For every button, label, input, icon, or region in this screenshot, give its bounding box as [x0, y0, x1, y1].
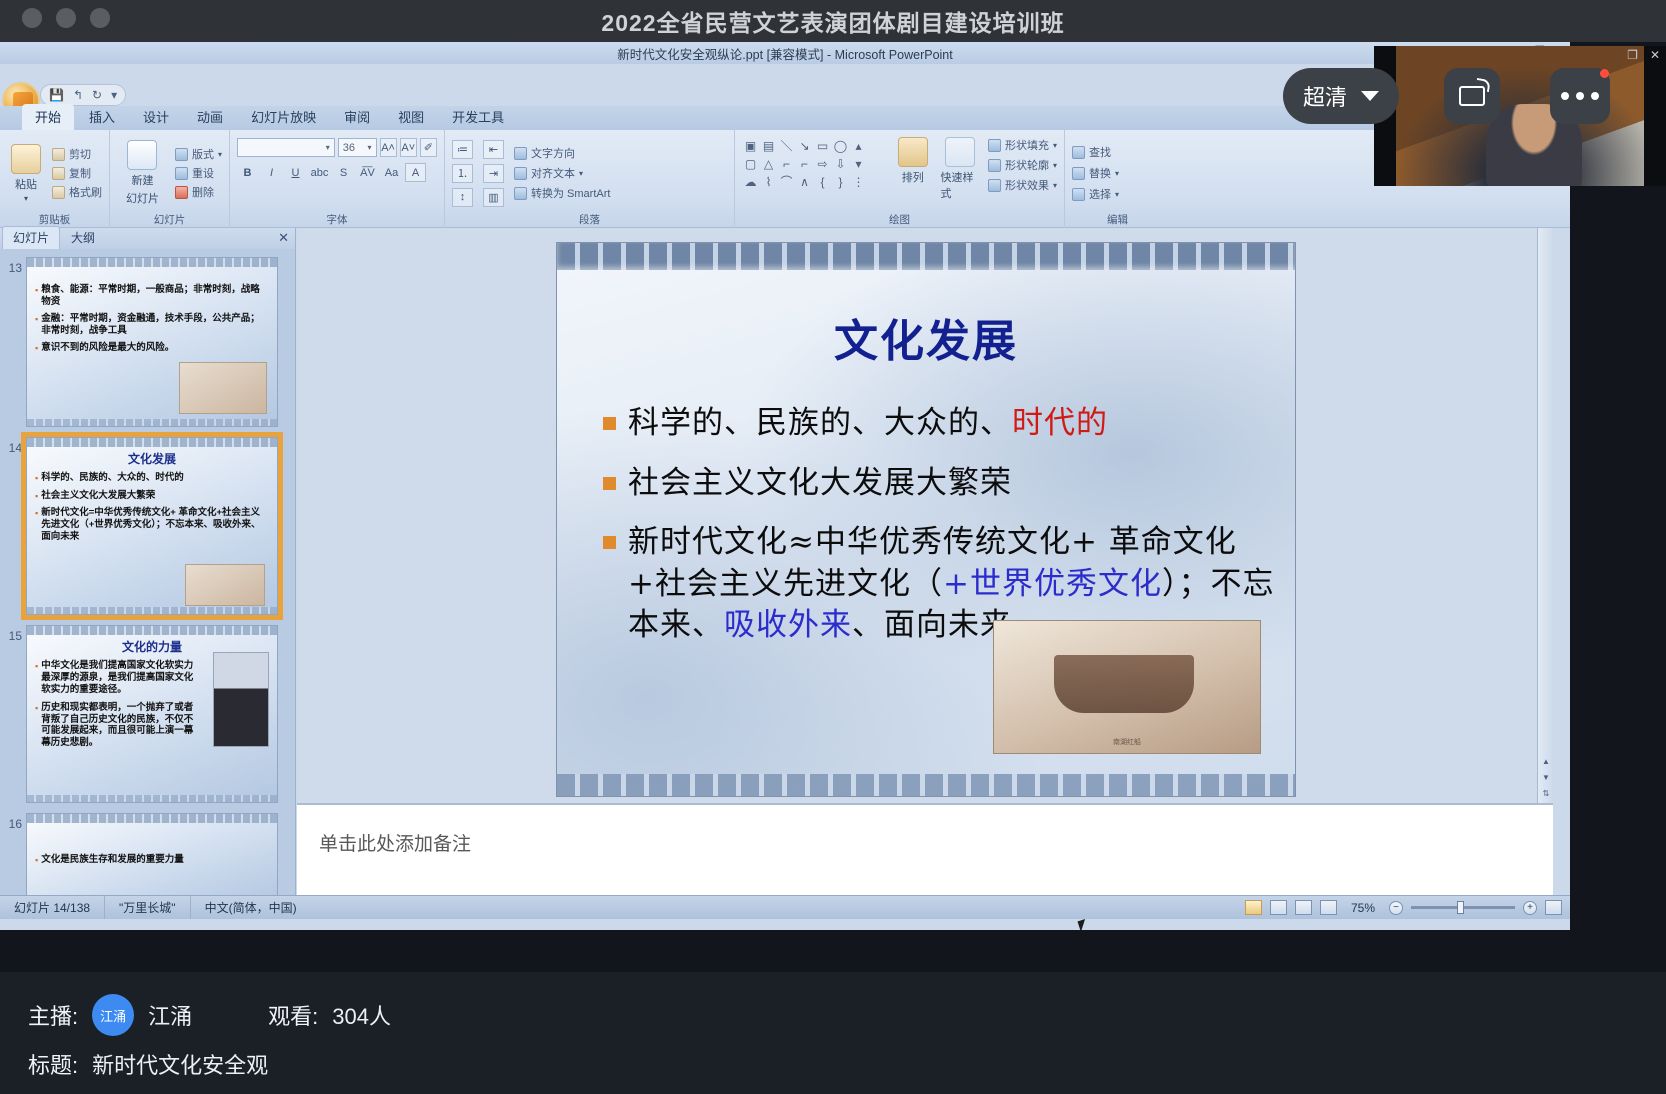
arrow-shape-icon[interactable]: ↘ — [796, 137, 813, 154]
thumb-line: 意识不到的风险是最大的风险。 — [41, 342, 174, 355]
quick-styles-button[interactable]: 快速样式 — [940, 137, 979, 201]
fit-to-window-icon[interactable] — [1545, 900, 1562, 915]
ribbon: 粘贴 ▾ 剪切 复制 — [0, 130, 1570, 228]
font-name-dropdown-icon[interactable]: ▾ — [326, 143, 330, 152]
thumb-line: 中华文化是我们提高国家文化软实力最深厚的源泉，是我们提高国家文化软实力的重要途径… — [41, 660, 200, 696]
align-text-label: 对齐文本 — [531, 165, 575, 181]
shared-screen: 新时代文化安全观纵论.ppt [兼容模式] - Microsoft PowerP… — [0, 42, 1570, 930]
decrease-font-size-button[interactable]: A˅ — [400, 138, 417, 157]
ribbon-group-font: ▾ 36 ▾ A˄ A˅ ✐ B I — [230, 130, 445, 228]
close-dot[interactable] — [22, 8, 42, 28]
powerpoint-document-title: 新时代文化安全观纵论.ppt [兼容模式] - Microsoft PowerP… — [617, 44, 952, 63]
format-painter-button[interactable]: 格式刷 — [52, 184, 102, 200]
slide-bullet-2: 社会主义文化大发展大繁荣 — [603, 463, 1283, 505]
underline-button[interactable]: U — [285, 163, 306, 182]
scroll-down-icon[interactable]: ▼ — [1538, 769, 1554, 785]
arrange-label: 排列 — [902, 169, 924, 185]
elbow-connector-shape-icon[interactable]: ⌐ — [778, 155, 795, 172]
avatar[interactable]: 江涌 — [92, 994, 134, 1036]
arrange-button[interactable]: 排列 — [893, 137, 932, 185]
smartart-icon — [514, 187, 527, 200]
ribbon-group-slides: 新建 幻灯片 版式 ▾ 重设 — [110, 130, 230, 228]
bullet-3-part-5: 、面向未来 — [852, 607, 1012, 643]
arrange-icon — [898, 137, 928, 167]
paste-button[interactable]: 粘贴 ▾ — [7, 134, 45, 212]
copy-label: 复制 — [69, 165, 91, 181]
editing-group-label: 编辑 — [1065, 212, 1170, 227]
speaker-portrait-image — [213, 652, 269, 747]
thumbnail-pane-tabs: 幻灯片 大纲 ✕ — [0, 228, 295, 249]
stream-title-label: 标题: — [28, 1048, 78, 1080]
paste-dropdown-icon[interactable]: ▾ — [24, 194, 28, 203]
video-close-icon[interactable]: ✕ — [1650, 48, 1660, 62]
video-restore-icon[interactable]: ❐ — [1627, 48, 1638, 62]
notes-placeholder[interactable]: 单击此处添加备注 — [319, 829, 1553, 856]
bullet-icon: ▪ — [35, 472, 38, 485]
list-item[interactable]: 14 文化发展 ▪科学的、民族的、大众的、时代的 ▪社会主义文化大发展大繁荣 ▪… — [4, 437, 296, 615]
stream-title-bar: 2022全省民营文艺表演团体剧目建设培训班 — [0, 0, 1666, 42]
close-pane-icon[interactable]: ✕ — [278, 230, 289, 246]
live-info-panel: 主播: 江涌 江涌 观看: 304人 标题: 新时代文化安全观 — [0, 972, 1666, 1094]
paste-icon — [11, 144, 41, 174]
bullet-icon: ▪ — [35, 284, 38, 308]
slide-top-band — [27, 258, 277, 267]
select-label: 选择 — [1089, 186, 1111, 202]
font-group-label: 字体 — [230, 212, 444, 227]
shapes-spacer-2 — [868, 155, 885, 172]
replace-icon — [1072, 167, 1085, 180]
bullet-1-part-1: 科学的、民族的、大众的、 — [628, 405, 1012, 441]
viewers-label: 观看: — [268, 999, 318, 1031]
more-options-icon-dot3 — [1591, 92, 1599, 100]
more-options-icon — [1561, 92, 1569, 100]
bullet-3-part-4: 吸收外来 — [724, 607, 852, 643]
powerpoint-status-bar: 幻灯片 14/138 "万里长城" 中文(简体，中国) 75% − + — [0, 895, 1570, 919]
save-icon[interactable]: 💾 — [49, 88, 64, 102]
slides-group-label: 幻灯片 — [110, 212, 229, 227]
red-boat-image — [185, 564, 265, 606]
thumb-title: 文化发展 — [35, 450, 269, 467]
bullet-icon: ▪ — [35, 342, 38, 355]
host-row: 主播: 江涌 江涌 观看: 304人 — [28, 994, 1666, 1036]
thumbnail-card-15[interactable]: 文化的力量 ▪中华文化是我们提高国家文化软实力最深厚的源泉，是我们提高国家文化软… — [26, 625, 278, 803]
oval-shape-icon[interactable]: ◯ — [832, 137, 849, 154]
list-item[interactable]: 16 ▪文化是民族生存和发展的重要力量 — [4, 813, 296, 895]
tab-review[interactable]: 审阅 — [331, 104, 383, 130]
right-brace-shape-icon[interactable]: } — [832, 173, 849, 190]
delete-icon — [175, 186, 188, 199]
layout-button[interactable]: 版式 ▾ — [175, 146, 222, 162]
theme-name: "万里长城" — [105, 896, 191, 919]
new-slide-label-1: 新建 — [131, 172, 153, 188]
slide-bullet-1: 科学的、民族的、大众的、时代的 — [603, 403, 1283, 445]
ribbon-group-paragraph: ≔ ⒈ ↕ ⇤ ⇥ ▥ 文字方向 — [445, 130, 735, 228]
quality-selector-button[interactable]: 超清 — [1283, 68, 1399, 124]
bullet-3-part-2: +世界优秀文化 — [943, 566, 1162, 602]
quick-styles-label: 快速样式 — [940, 169, 979, 201]
shape-effects-icon — [988, 179, 1001, 192]
language-indicator[interactable]: 中文(简体，中国) — [191, 896, 311, 919]
undo-icon[interactable]: ↰ — [73, 88, 83, 102]
shapes-spacer — [868, 137, 885, 154]
find-label: 查找 — [1089, 144, 1111, 160]
shape-outline-label: 形状轮廓 — [1005, 157, 1049, 173]
list-item[interactable]: 13 ▪粮食、能源：平常时期，一般商品；非常时刻，战略物资 ▪金融：平常时期，资… — [4, 257, 296, 427]
tab-insert[interactable]: 插入 — [76, 104, 128, 130]
slide-editing-area[interactable]: 文化发展 科学的、民族的、大众的、时代的 社会主义文化大发展大繁荣 — [297, 228, 1553, 803]
delete-slide-button[interactable]: 删除 — [175, 184, 222, 200]
new-slide-button[interactable]: 新建 幻灯片 — [117, 134, 168, 212]
thumbnail-card-16[interactable]: ▪文化是民族生存和发展的重要力量 — [26, 813, 278, 895]
triangle-shape-icon[interactable]: △ — [760, 155, 777, 172]
window-dots — [22, 8, 110, 28]
shape-effects-label: 形状效果 — [1005, 177, 1049, 193]
tab-view[interactable]: 视图 — [385, 104, 437, 130]
change-case-button[interactable]: Aa — [381, 163, 402, 182]
drawing-group-label: 绘图 — [735, 212, 1064, 227]
shape-effects-button[interactable]: 形状效果 ▾ — [988, 177, 1057, 193]
bullet-icon: ▪ — [35, 490, 38, 503]
select-icon — [1072, 188, 1085, 201]
replace-label: 替换 — [1089, 165, 1111, 181]
tab-home[interactable]: 开始 — [22, 104, 74, 130]
numbering-button[interactable]: ⒈ — [452, 164, 473, 183]
thumb-line: 科学的、民族的、大众的、时代的 — [41, 472, 184, 485]
left-brace-shape-icon[interactable]: { — [814, 173, 831, 190]
boat-shape — [1054, 655, 1194, 713]
video-window-controls: ❐ ✕ — [1627, 48, 1660, 62]
clipboard-group-label: 剪贴板 — [0, 212, 109, 227]
reset-label: 重设 — [192, 165, 214, 181]
slide-bottom-band — [27, 795, 277, 802]
bullet-square-icon — [603, 477, 616, 490]
picture-in-picture-icon — [1459, 86, 1485, 106]
font-size-dropdown-icon[interactable]: ▾ — [368, 143, 372, 152]
slide-bottom-band — [27, 419, 277, 426]
zoom-percent: 75% — [1345, 901, 1381, 915]
zoom-in-button[interactable]: + — [1523, 901, 1537, 915]
copy-button[interactable]: 复制 — [52, 165, 102, 181]
shapes-scroll-down-icon[interactable]: ▾ — [850, 155, 867, 172]
layout-label: 版式 — [192, 146, 214, 162]
paste-label: 粘贴 — [15, 176, 37, 192]
slideshow-view-button[interactable] — [1320, 900, 1337, 915]
shape-fill-icon — [988, 139, 1001, 152]
zoom-out-button[interactable]: − — [1389, 901, 1403, 915]
align-text-dropdown-icon[interactable]: ▾ — [579, 169, 583, 178]
bullet-icon: ▪ — [35, 660, 38, 696]
thumb-line: 历史和现实都表明，一个抛弃了或者背叛了自己历史文化的民族，不仅不可能发展起来，而… — [41, 702, 200, 750]
vertical-textbox-shape-icon[interactable]: ▤ — [760, 137, 777, 154]
thumbnail-number: 15 — [4, 625, 26, 643]
reset-icon — [175, 167, 188, 180]
elbow-arrow-shape-icon[interactable]: ⌐ — [796, 155, 813, 172]
shape-outline-icon — [988, 159, 1001, 172]
more-options-button[interactable] — [1550, 68, 1610, 124]
slide-title[interactable]: 文化发展 — [557, 305, 1295, 369]
convert-to-smartart-button[interactable]: 转换为 SmartArt — [514, 185, 610, 201]
shape-fill-label: 形状填充 — [1005, 137, 1049, 153]
strikethrough-button[interactable]: abc — [309, 163, 330, 182]
chevron-down-icon — [1361, 91, 1379, 101]
picture-in-picture-button[interactable] — [1444, 68, 1500, 124]
tab-design[interactable]: 设计 — [130, 104, 182, 130]
zoom-slider-knob[interactable] — [1457, 901, 1464, 914]
current-slide[interactable]: 文化发展 科学的、民族的、大众的、时代的 社会主义文化大发展大繁荣 — [556, 242, 1296, 797]
list-item[interactable]: 15 文化的力量 ▪中华文化是我们提高国家文化软实力最深厚的源泉，是我们提高国家… — [4, 625, 296, 803]
risk-magnifier-image — [179, 362, 267, 414]
new-slide-label-2: 幻灯片 — [126, 190, 159, 206]
bullets-button[interactable]: ≔ — [452, 140, 473, 159]
shadow-button[interactable]: S — [333, 163, 354, 182]
slide-thumbnail-pane: 幻灯片 大纲 ✕ 13 ▪粮食、能源：平常时期，一般商品；非常时刻，战略物资 — [0, 228, 296, 895]
slide-bottom-band — [27, 607, 277, 614]
font-color-button[interactable]: A — [405, 163, 426, 182]
thumb-line: 金融：平常时期，资金融通，技术手段，公共产品；非常时刻，战争工具 — [41, 313, 269, 337]
notes-pane[interactable]: 单击此处添加备注 — [297, 803, 1553, 895]
columns-button[interactable]: ▥ — [483, 188, 504, 207]
host-name: 江涌 — [148, 999, 192, 1031]
font-size-combobox[interactable]: 36 ▾ — [338, 138, 377, 157]
layout-icon — [175, 148, 188, 161]
align-text-button[interactable]: 对齐文本 ▾ — [514, 165, 610, 181]
normal-view-button[interactable] — [1245, 900, 1262, 915]
new-slide-icon — [127, 140, 157, 170]
copy-icon — [52, 167, 65, 180]
thumb-line: 社会主义文化大发展大繁荣 — [41, 490, 155, 503]
slide-vertical-scrollbar[interactable]: ▲ ▼ ⇅ — [1537, 228, 1553, 803]
scissors-icon — [52, 148, 65, 161]
font-name-combobox[interactable]: ▾ — [237, 138, 335, 157]
red-boat-photo[interactable]: 南湖红船 — [993, 620, 1261, 754]
powerpoint-title-bar: 新时代文化安全观纵论.ppt [兼容模式] - Microsoft PowerP… — [0, 42, 1570, 64]
cloud-shape-icon[interactable]: ☁ — [742, 173, 759, 190]
delete-label: 删除 — [192, 184, 214, 200]
paragraph-group-label: 段落 — [445, 212, 734, 227]
right-arrow-shape-icon[interactable]: ⇨ — [814, 155, 831, 172]
presenter-video[interactable]: ❐ ✕ — [1374, 46, 1666, 186]
character-spacing-button[interactable]: A͞V — [357, 163, 378, 182]
slide-counter: 幻灯片 14/138 — [0, 896, 105, 919]
redo-icon[interactable]: ↻ — [92, 88, 102, 102]
text-direction-icon — [514, 147, 527, 160]
quick-styles-icon — [945, 137, 975, 167]
bullet-icon: ▪ — [35, 702, 38, 750]
thumbnail-card-14[interactable]: 文化发展 ▪科学的、民族的、大众的、时代的 ▪社会主义文化大发展大繁荣 ▪新时代… — [26, 437, 278, 615]
zoom-slider[interactable] — [1411, 906, 1515, 909]
mouse-cursor — [1077, 919, 1088, 930]
layout-dropdown-icon[interactable]: ▾ — [218, 150, 222, 159]
replace-dropdown-icon[interactable]: ▾ — [1115, 169, 1119, 178]
select-dropdown-icon[interactable]: ▾ — [1115, 190, 1119, 199]
rounded-rectangle-shape-icon[interactable]: ▢ — [742, 155, 759, 172]
shapes-gallery[interactable]: ▣ ▤ ＼ ↘ ▭ ◯ ▴ ▢ △ ⌐ ⌐ ⇨ — [742, 137, 885, 190]
shape-effects-dropdown-icon[interactable]: ▾ — [1053, 181, 1057, 190]
photo-caption: 南湖红船 — [994, 737, 1260, 747]
slide-top-decoration — [557, 243, 1295, 270]
host-label: 主播: — [28, 999, 78, 1031]
bullet-2-part-1: 社会主义文化大发展大繁荣 — [628, 465, 1012, 501]
bold-button[interactable]: B — [237, 163, 258, 182]
thumb-line: 粮食、能源：平常时期，一般商品；非常时刻，战略物资 — [41, 284, 269, 308]
slide-bottom-decoration — [557, 774, 1295, 796]
shape-fill-button[interactable]: 形状填充 ▾ — [988, 137, 1057, 153]
bullet-square-icon — [603, 417, 616, 430]
tab-slideshow[interactable]: 幻灯片放映 — [238, 104, 329, 130]
arc-shape-icon[interactable]: ∧ — [796, 173, 813, 190]
text-direction-label: 文字方向 — [531, 145, 575, 161]
replace-button[interactable]: 替换 ▾ — [1072, 165, 1119, 181]
thumbnail-card-13[interactable]: ▪粮食、能源：平常时期，一般商品；非常时刻，战略物资 ▪金融：平常时期，资金融通… — [26, 257, 278, 427]
shapes-more-icon[interactable]: ⋮ — [850, 173, 867, 190]
shapes-scroll-up-icon[interactable]: ▴ — [850, 137, 867, 154]
quality-label: 超清 — [1303, 80, 1347, 112]
rectangle-shape-icon[interactable]: ▭ — [814, 137, 831, 154]
status-bar-right: 75% − + — [1245, 900, 1570, 915]
tab-slides[interactable]: 幻灯片 — [2, 226, 60, 249]
increase-font-size-button[interactable]: A˄ — [380, 138, 397, 157]
ribbon-group-editing: 查找 替换 ▾ 选择 ▾ — [1065, 130, 1170, 228]
next-slide-icon[interactable]: ⇅ — [1538, 785, 1554, 801]
ribbon-group-drawing: ▣ ▤ ＼ ↘ ▭ ◯ ▴ ▢ △ ⌐ ⌐ ⇨ — [735, 130, 1065, 228]
align-text-icon — [514, 167, 527, 180]
italic-button[interactable]: I — [261, 163, 282, 182]
slide-sorter-view-button[interactable] — [1270, 900, 1287, 915]
bullet-icon: ▪ — [35, 854, 38, 867]
cut-button[interactable]: 剪切 — [52, 146, 102, 162]
shape-outline-button[interactable]: 形状轮廓 ▾ — [988, 157, 1057, 173]
freeform-shape-icon[interactable]: ⌇ — [760, 173, 777, 190]
thumb-line: 新时代文化=中华优秀传统文化+ 革命文化+社会主义先进文化（+世界优秀文化）；不… — [41, 507, 269, 543]
find-button[interactable]: 查找 — [1072, 144, 1119, 160]
down-arrow-shape-icon[interactable]: ⇩ — [832, 155, 849, 172]
thumbnail-number: 13 — [4, 257, 26, 275]
thumb-line: 文化是民族生存和发展的重要力量 — [41, 854, 184, 867]
more-options-icon-dot2 — [1576, 92, 1584, 100]
text-direction-button[interactable]: 文字方向 — [514, 145, 610, 161]
slide-top-band — [27, 438, 277, 447]
slide-top-band — [27, 814, 277, 823]
line-spacing-button[interactable]: ↕ — [452, 188, 473, 207]
scroll-up-icon[interactable]: ▲ — [1538, 753, 1554, 769]
reset-button[interactable]: 重设 — [175, 165, 222, 181]
stream-title-value: 新时代文化安全观 — [92, 1048, 268, 1080]
tab-developer[interactable]: 开发工具 — [439, 104, 517, 130]
format-painter-label: 格式刷 — [69, 184, 102, 200]
tab-outline[interactable]: 大纲 — [61, 227, 105, 249]
bullet-1-part-2: 时代的 — [1012, 405, 1108, 441]
thumbnail-list[interactable]: 13 ▪粮食、能源：平常时期，一般商品；非常时刻，战略物资 ▪金融：平常时期，资… — [0, 249, 296, 895]
thumbnail-number: 14 — [4, 437, 26, 455]
decrease-indent-button[interactable]: ⇤ — [483, 140, 504, 159]
slide-top-band — [27, 626, 277, 635]
thumbnail-number: 16 — [4, 813, 26, 831]
title-row: 标题: 新时代文化安全观 — [28, 1048, 1666, 1080]
increase-indent-button[interactable]: ⇥ — [483, 164, 504, 183]
bullet-square-icon — [603, 536, 616, 549]
shape-fill-dropdown-icon[interactable]: ▾ — [1053, 141, 1057, 150]
ribbon-group-clipboard: 粘贴 ▾ 剪切 复制 — [0, 130, 110, 228]
curve-shape-icon[interactable]: ⌒ — [778, 173, 795, 190]
tab-animations[interactable]: 动画 — [184, 104, 236, 130]
minimize-dot[interactable] — [56, 8, 76, 28]
font-size-value: 36 — [343, 142, 355, 154]
smartart-label: 转换为 SmartArt — [531, 185, 610, 201]
stream-title: 2022全省民营文艺表演团体剧目建设培训班 — [601, 4, 1064, 38]
quick-access-toolbar: 💾 ↰ ↻ ▾ — [40, 84, 126, 106]
line-shape-icon[interactable]: ＼ — [778, 137, 795, 154]
customize-qat-icon[interactable]: ▾ — [111, 88, 117, 102]
reading-view-button[interactable] — [1295, 900, 1312, 915]
clear-formatting-button[interactable]: ✐ — [420, 138, 437, 157]
bullet-icon: ▪ — [35, 507, 38, 543]
powerpoint-window: 新时代文化安全观纵论.ppt [兼容模式] - Microsoft PowerP… — [0, 42, 1570, 930]
shape-outline-dropdown-icon[interactable]: ▾ — [1053, 161, 1057, 170]
maximize-dot[interactable] — [90, 8, 110, 28]
textbox-shape-icon[interactable]: ▣ — [742, 137, 759, 154]
find-icon — [1072, 146, 1085, 159]
viewers-count: 304人 — [332, 999, 391, 1031]
bullet-icon: ▪ — [35, 313, 38, 337]
notification-badge — [1600, 69, 1609, 78]
cut-label: 剪切 — [69, 146, 91, 162]
select-button[interactable]: 选择 ▾ — [1072, 186, 1119, 202]
paintbrush-icon — [52, 186, 65, 199]
